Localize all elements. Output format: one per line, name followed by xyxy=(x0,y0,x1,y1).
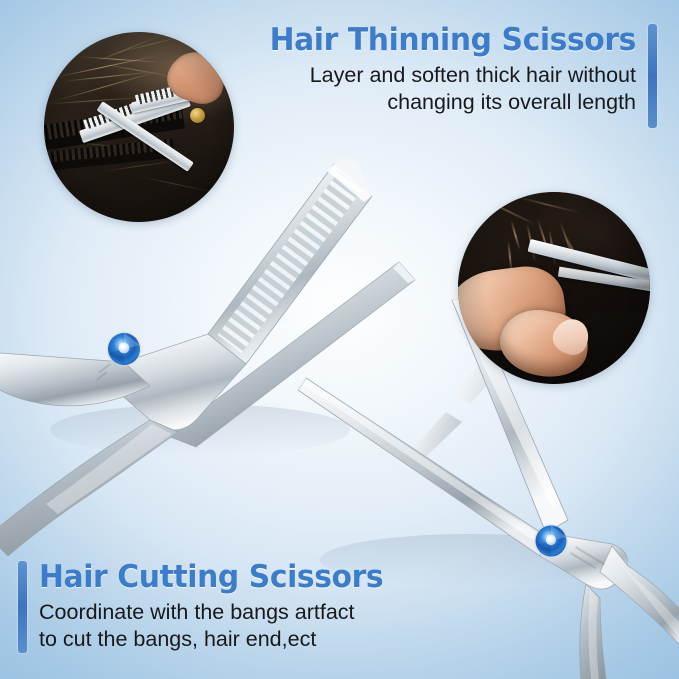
top-accent-bar xyxy=(648,24,657,128)
top-text-block: Hair Thinning Scissors Layer and soften … xyxy=(241,24,657,128)
bottom-accent-bar xyxy=(18,561,27,653)
bottom-text-block: Hair Cutting Scissors Coordinate with th… xyxy=(18,561,438,653)
top-text-column: Hair Thinning Scissors Layer and soften … xyxy=(241,24,636,116)
product-feature-image: Hair Thinning Scissors Layer and soften … xyxy=(0,0,679,679)
photo-cutting-scissors-in-use xyxy=(458,192,650,384)
bottom-subline-1: Coordinate with the bangs artfact xyxy=(39,599,438,626)
bottom-headline: Hair Cutting Scissors xyxy=(39,561,422,594)
top-subline-2: changing its overall length xyxy=(241,89,636,116)
photo-thinning-scissors-in-use xyxy=(44,32,234,222)
pivot-screw-cutting xyxy=(536,526,567,557)
pivot-screw-thinning xyxy=(108,333,140,365)
top-subline-1: Layer and soften thick hair without xyxy=(241,62,636,89)
top-headline: Hair Thinning Scissors xyxy=(257,24,636,57)
photo-vignette xyxy=(458,192,650,384)
photo-vignette xyxy=(44,32,234,222)
bottom-text-column: Hair Cutting Scissors Coordinate with th… xyxy=(39,561,438,653)
bottom-subline-2: to cut the bangs, hair end,ect xyxy=(39,626,438,653)
